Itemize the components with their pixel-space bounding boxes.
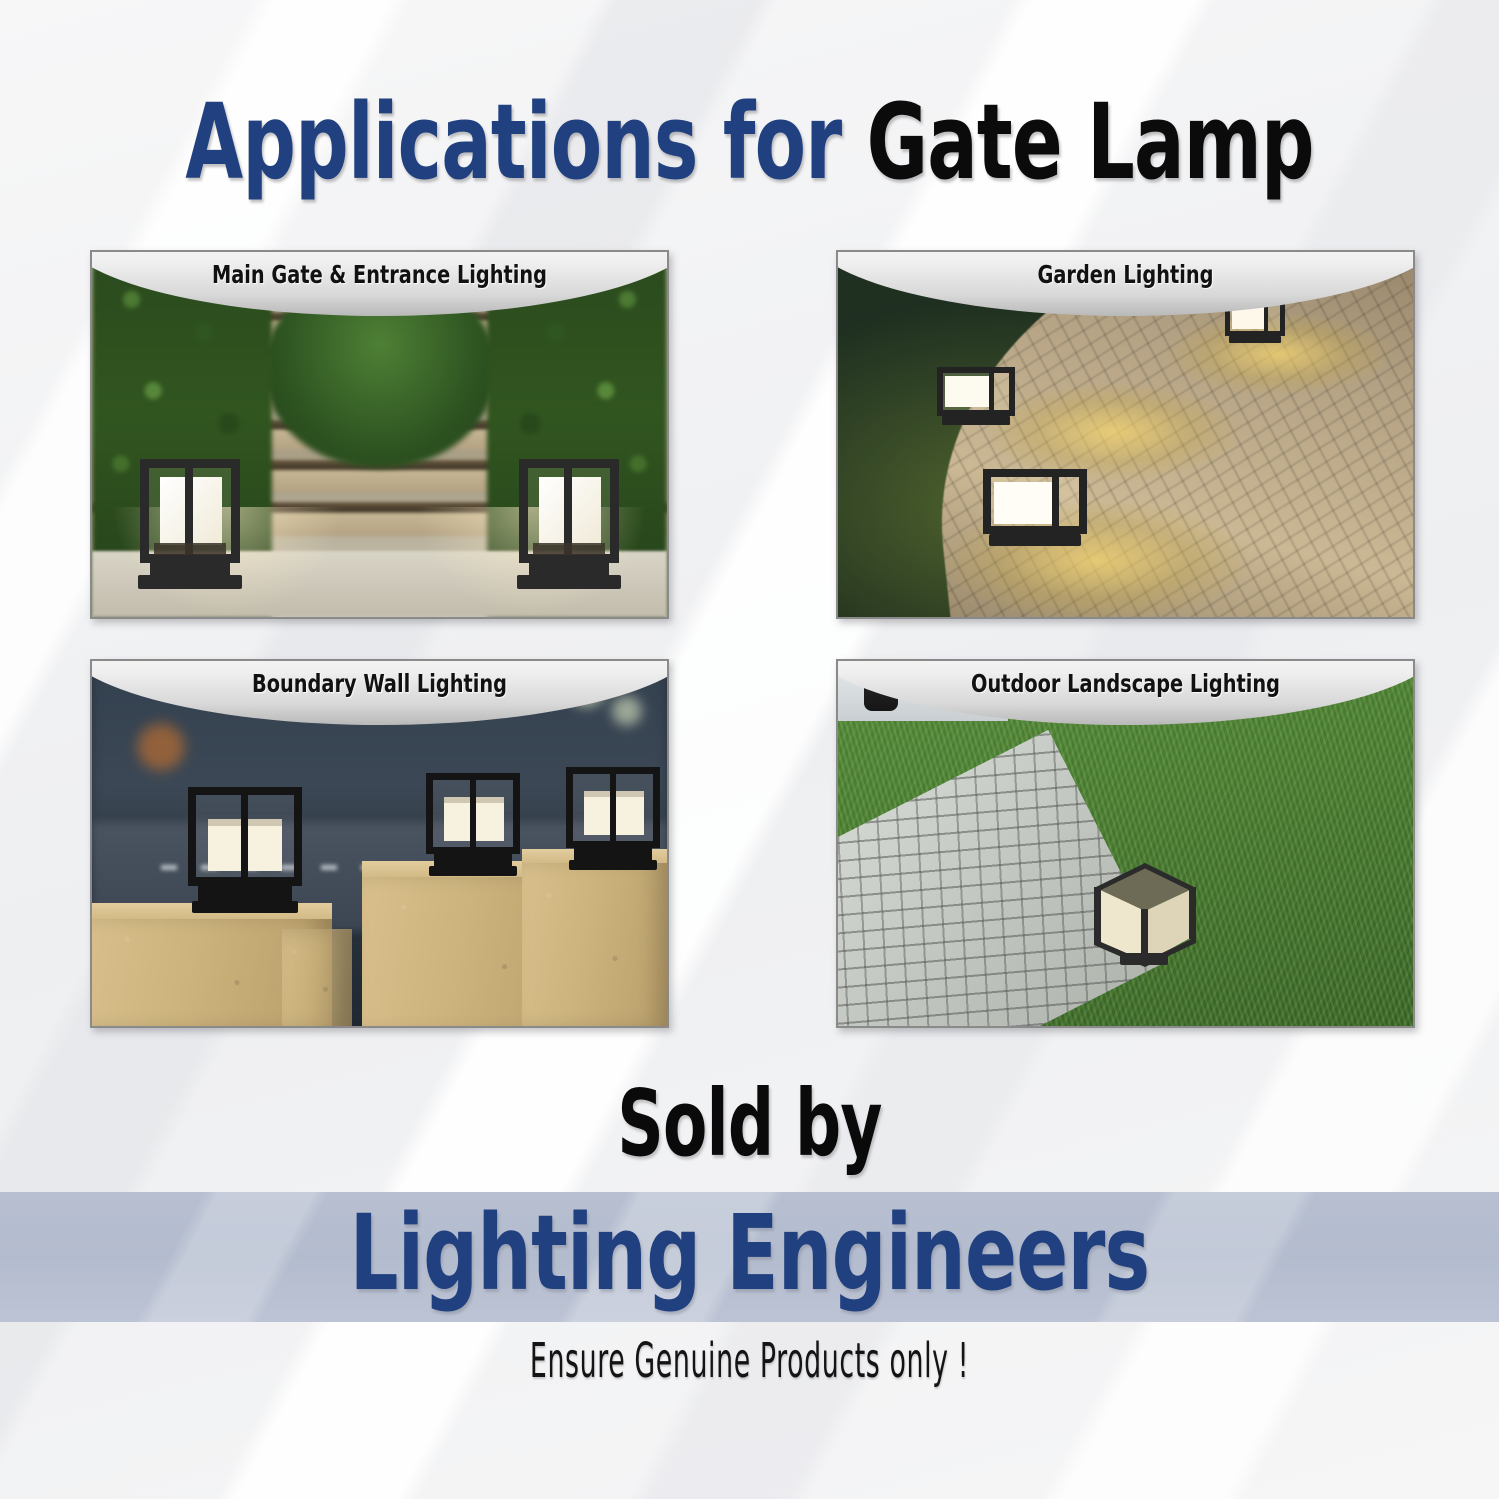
center-shrub [265, 278, 495, 468]
gallery-row-top: Main Gate & Entrance Lighting [90, 250, 1415, 619]
application-gallery: Main Gate & Entrance Lighting [90, 250, 1415, 1028]
wall-lamp-right [560, 761, 666, 873]
pillar-front-side [282, 929, 352, 1026]
gate-lamp-right [511, 443, 627, 593]
gallery-caption: Garden Lighting [878, 260, 1373, 289]
page-title-accent: Applications for [185, 81, 841, 203]
page-title-product: Gate Lamp [867, 81, 1314, 203]
wall-lamp-front [180, 779, 310, 915]
gallery-item-outdoor-landscape[interactable]: Outdoor Landscape Lighting [836, 659, 1415, 1028]
gate-lamp-left [132, 443, 248, 593]
wall-lamp-mid [420, 767, 526, 879]
garden-lamp-far [1223, 294, 1287, 346]
photo-outdoor-landscape-lighting [838, 661, 1413, 1026]
tagline: Ensure Genuine Products only ! [285, 1337, 1214, 1385]
gallery-item-main-gate[interactable]: Main Gate & Entrance Lighting [90, 250, 669, 619]
pillar-right [522, 857, 667, 1026]
garden-lamp-near [980, 464, 1090, 552]
landscape-cube-lamp [1080, 849, 1210, 969]
poster-root: Applications for Gate Lamp [0, 0, 1499, 1499]
gallery-caption: Boundary Wall Lighting [132, 669, 627, 698]
gallery-caption: Outdoor Landscape Lighting [878, 669, 1373, 698]
gallery-item-garden[interactable]: Garden Lighting [836, 250, 1415, 619]
garden-lamp-mid [934, 362, 1018, 428]
photo-main-gate-entrance [92, 252, 667, 617]
page-title: Applications for Gate Lamp [150, 90, 1349, 194]
photo-garden-lighting [838, 252, 1413, 617]
gallery-caption: Main Gate & Entrance Lighting [132, 260, 627, 289]
gallery-item-boundary-wall[interactable]: Boundary Wall Lighting [90, 659, 669, 1028]
brand-name: Lighting Engineers [135, 1196, 1364, 1310]
gallery-row-bottom: Boundary Wall Lighting [90, 659, 1415, 1028]
photo-boundary-wall-lighting [92, 661, 667, 1026]
sold-by-label: Sold by [165, 1078, 1334, 1170]
